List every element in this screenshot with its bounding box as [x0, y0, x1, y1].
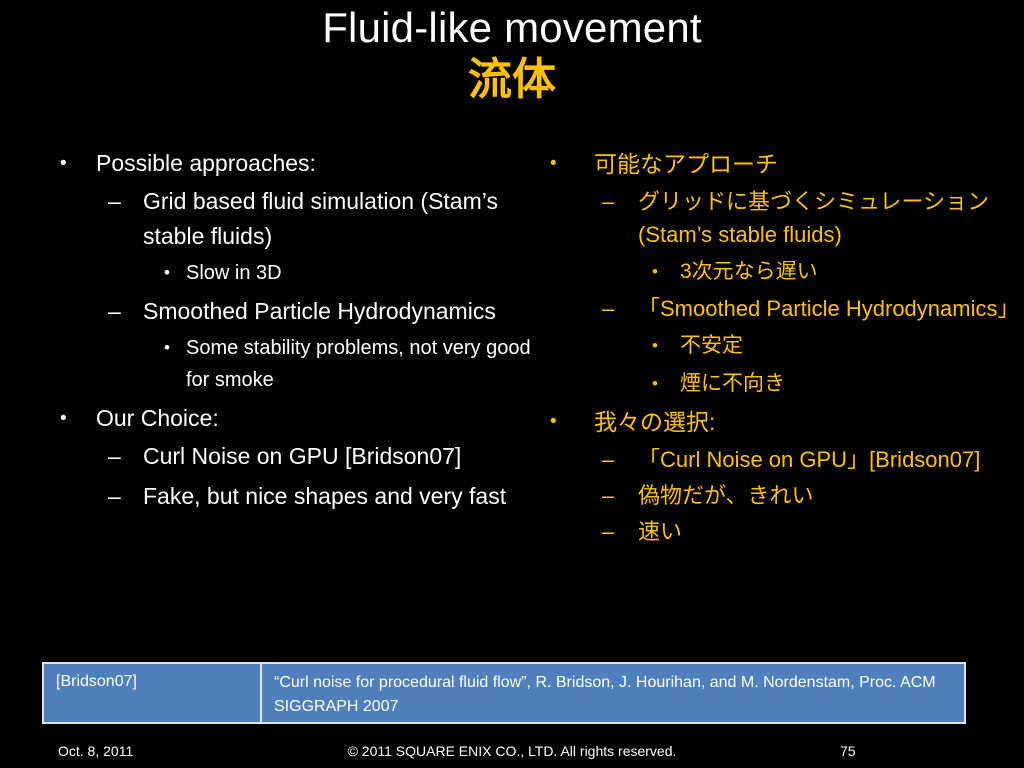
- list-item: – Smoothed Particle Hydrodynamics: [46, 294, 546, 329]
- bullet-dash-icon: –: [602, 292, 638, 325]
- bullet-dot-icon: •: [652, 254, 680, 289]
- bullet-dot-icon: •: [164, 257, 186, 289]
- slide-number: 75: [840, 743, 856, 759]
- list-item: • Possible approaches:: [46, 146, 546, 181]
- list-item: • 煙に不向き: [540, 366, 1010, 401]
- list-item-label: 「Curl Noise on GPU」[Bridson07]: [638, 443, 1010, 476]
- list-item-label: 偽物だが、きれい: [638, 479, 1010, 512]
- list-item-label: 「Smoothed Particle Hydrodynamics」: [638, 292, 1010, 325]
- list-item: – Grid based fluid simulation (Stam’s st…: [46, 184, 546, 254]
- list-item-label: グリッドに基づくシミュレーション (Stam’s stable fluids): [638, 185, 1010, 251]
- page-title-japanese: 流体: [0, 52, 1024, 108]
- presentation-slide: Fluid-like movement 流体 • Possible approa…: [0, 0, 1024, 768]
- list-item-label: Slow in 3D: [186, 257, 546, 289]
- bullet-dash-icon: –: [108, 184, 143, 219]
- list-item: – 速い: [540, 515, 1010, 548]
- list-item-label: Our Choice:: [96, 401, 546, 436]
- citation-table: [Bridson07] “Curl noise for procedural f…: [42, 662, 966, 724]
- bullet-dot-icon: •: [46, 401, 96, 436]
- list-item: • Our Choice:: [46, 401, 546, 436]
- bullet-dot-icon: •: [46, 146, 96, 181]
- list-item: • 我々の選択:: [540, 404, 1010, 440]
- list-item-label: Curl Noise on GPU [Bridson07]: [143, 439, 546, 474]
- slide-title-block: Fluid-like movement 流体: [0, 2, 1024, 108]
- citation-key-cell: [Bridson07]: [44, 664, 262, 722]
- bullet-dash-icon: –: [108, 479, 143, 514]
- bullet-dot-icon: •: [540, 146, 594, 182]
- list-item-label: Some stability problems, not very good f…: [186, 332, 546, 396]
- bullet-dash-icon: –: [602, 479, 638, 512]
- bullet-dot-icon: •: [652, 328, 680, 363]
- bullet-dot-icon: •: [652, 366, 680, 401]
- list-item: • Some stability problems, not very good…: [46, 332, 546, 396]
- bullet-dash-icon: –: [602, 185, 638, 218]
- page-title: Fluid-like movement: [0, 2, 1024, 54]
- list-item: • 不安定: [540, 328, 1010, 363]
- right-content-column: • 可能なアプローチ – グリッドに基づくシミュレーション (Stam’s st…: [540, 146, 1010, 548]
- citation-reference-cell: “Curl noise for procedural fluid flow”, …: [262, 664, 964, 722]
- list-item: – Curl Noise on GPU [Bridson07]: [46, 439, 546, 474]
- list-item-label: 不安定: [680, 328, 1010, 363]
- list-item: • 可能なアプローチ: [540, 146, 1010, 182]
- bullet-dash-icon: –: [108, 294, 143, 329]
- list-item: • 3次元なら遅い: [540, 254, 1010, 289]
- list-item-label: 3次元なら遅い: [680, 254, 1010, 289]
- list-item: • Slow in 3D: [46, 257, 546, 289]
- list-item-label: Possible approaches:: [96, 146, 546, 181]
- list-item-label: 可能なアプローチ: [594, 146, 1010, 182]
- bullet-dot-icon: •: [540, 404, 594, 440]
- bullet-dash-icon: –: [602, 515, 638, 548]
- bullet-dash-icon: –: [108, 439, 143, 474]
- list-item: – 偽物だが、きれい: [540, 479, 1010, 512]
- list-item: – 「Curl Noise on GPU」[Bridson07]: [540, 443, 1010, 476]
- list-item-label: 我々の選択:: [594, 404, 1010, 440]
- slide-footer: Oct. 8, 2011 © 2011 SQUARE ENIX CO., LTD…: [0, 740, 1024, 766]
- list-item-label: 煙に不向き: [680, 366, 1010, 401]
- list-item: – Fake, but nice shapes and very fast: [46, 479, 546, 514]
- list-item-label: 速い: [638, 515, 1010, 548]
- left-content-column: • Possible approaches: – Grid based flui…: [46, 146, 546, 514]
- list-item: – グリッドに基づくシミュレーション (Stam’s stable fluids…: [540, 185, 1010, 251]
- list-item-label: Fake, but nice shapes and very fast: [143, 479, 546, 514]
- bullet-dash-icon: –: [602, 443, 638, 476]
- list-item-label: Grid based fluid simulation (Stam’s stab…: [143, 184, 546, 254]
- bullet-dot-icon: •: [164, 332, 186, 364]
- list-item: – 「Smoothed Particle Hydrodynamics」: [540, 292, 1010, 325]
- footer-copyright: © 2011 SQUARE ENIX CO., LTD. All rights …: [0, 743, 1024, 759]
- list-item-label: Smoothed Particle Hydrodynamics: [143, 294, 546, 329]
